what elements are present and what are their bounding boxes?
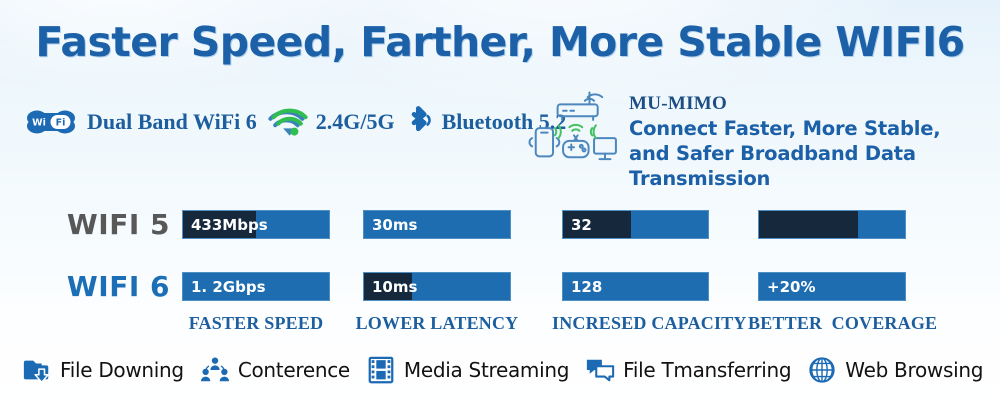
folder-download-icon — [22, 355, 52, 385]
use-case-label: Media Streaming — [404, 358, 569, 382]
feature-label: 2.4G/5G — [316, 109, 395, 135]
feature-label: Dual Band WiFi 6 — [87, 109, 257, 135]
bar-wifi6-faster-speed: 1. 2Gbps — [182, 272, 330, 301]
page-title: Faster Speed, Farther, More Stable WIFI6 — [0, 18, 1000, 66]
feature-24g-5g: 2.4G/5G — [267, 106, 395, 138]
svg-text:Wi: Wi — [32, 118, 46, 129]
bar-wifi5-incresed-capacity: 32 — [562, 210, 709, 239]
category-label-incresed-capacity: INCRESED CAPACITY — [552, 313, 720, 334]
mumimo-block: MU-MIMO Connect Faster, More Stable, and… — [528, 88, 959, 192]
bar-value: +20% — [767, 273, 815, 301]
category-label-row: FASTER SPEED LOWER LATENCY INCRESED CAPA… — [0, 313, 1000, 337]
feature-badge-row: Wi Fi Dual Band WiFi 6 2.4G/5G — [22, 105, 566, 139]
bar-wifi6-incresed-capacity: 128 — [562, 272, 709, 301]
category-label-faster-speed: FASTER SPEED — [172, 313, 340, 334]
mumimo-devices-icon — [528, 88, 620, 170]
bar-value: 1. 2Gbps — [191, 273, 266, 301]
globe-icon — [807, 355, 837, 385]
use-case-media-streaming: Media Streaming — [366, 355, 569, 385]
conference-icon — [200, 355, 230, 385]
bar-value: 30ms — [372, 211, 417, 239]
mumimo-title: MU-MIMO — [629, 94, 959, 114]
bar-wifi5-better-coverage — [758, 210, 906, 239]
bar-value: 433Mbps — [191, 211, 268, 239]
category-label-lower-latency: LOWER LATENCY — [353, 313, 521, 334]
use-case-file-downing: File Downing — [22, 355, 184, 385]
chat-bubbles-icon — [585, 355, 615, 385]
use-case-label: Web Browsing — [845, 358, 983, 382]
row-label-wifi5: WIFI 5 — [0, 210, 170, 239]
bar-value: 128 — [571, 273, 602, 301]
row-label-wifi6: WIFI 6 — [0, 272, 170, 301]
bar-wifi5-lower-latency: 30ms — [363, 210, 511, 239]
svg-text:Fi: Fi — [56, 118, 66, 129]
mumimo-description: Connect Faster, More Stable, and Safer B… — [629, 117, 959, 192]
bar-value: 32 — [571, 211, 592, 239]
use-case-conterence: Conterence — [200, 355, 350, 385]
use-case-row: File Downing Conterence — [22, 355, 983, 385]
use-case-label: File Downing — [60, 358, 184, 382]
wifi6-infographic: Faster Speed, Farther, More Stable WIFI6… — [0, 0, 1000, 417]
comparison-row-wifi5: WIFI 5 433Mbps 30ms 32 — [0, 210, 1000, 240]
wifi-signal-icon — [267, 106, 309, 138]
comparison-row-wifi6: WIFI 6 1. 2Gbps 10ms 128 +20% — [0, 272, 1000, 302]
bar-wifi6-lower-latency: 10ms — [363, 272, 511, 301]
wifi-logo-icon: Wi Fi — [22, 107, 80, 137]
bar-fill — [759, 211, 858, 238]
bar-value: 10ms — [372, 273, 417, 301]
bluetooth-icon — [405, 105, 435, 139]
feature-dual-band-wifi6: Wi Fi Dual Band WiFi 6 — [22, 107, 257, 137]
category-label-better-coverage: BETTER COVERAGE — [748, 313, 916, 334]
use-case-web-browsing: Web Browsing — [807, 355, 983, 385]
use-case-file-tmansferring: File Tmansferring — [585, 355, 791, 385]
bar-wifi5-faster-speed: 433Mbps — [182, 210, 330, 239]
film-strip-icon — [366, 355, 396, 385]
bar-wifi6-better-coverage: +20% — [758, 272, 906, 301]
use-case-label: Conterence — [238, 358, 350, 382]
use-case-label: File Tmansferring — [623, 358, 791, 382]
